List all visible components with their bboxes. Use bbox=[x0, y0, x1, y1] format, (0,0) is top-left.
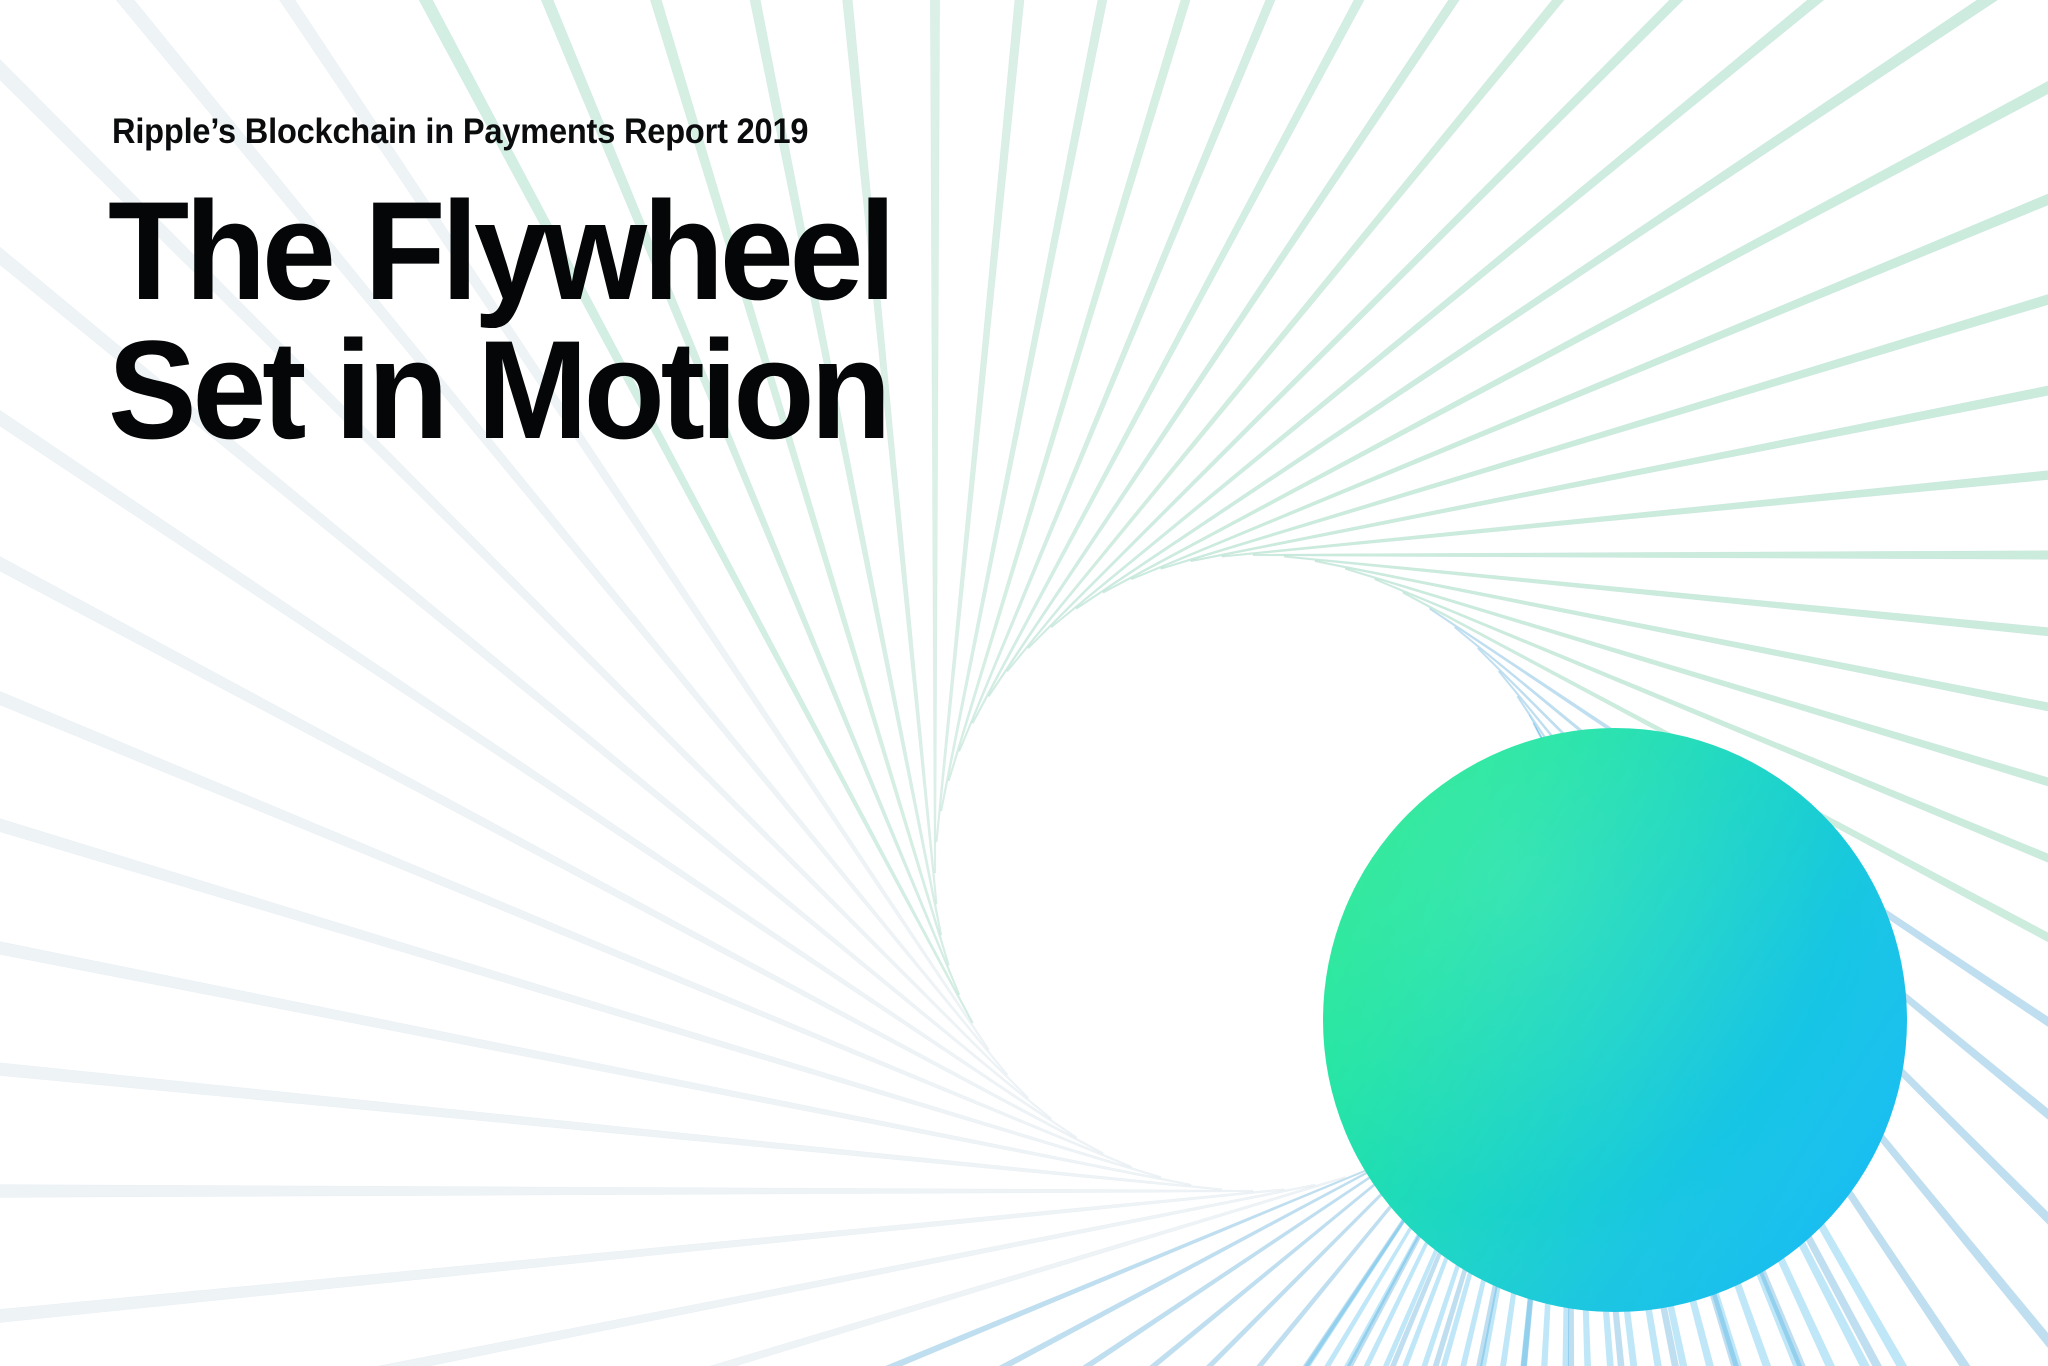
report-cover-page: Ripple’s Blockchain in Payments Report 2… bbox=[0, 0, 2048, 1366]
ray bbox=[1051, 0, 2048, 628]
ray bbox=[587, 0, 937, 904]
ray bbox=[0, 0, 1008, 1075]
ray bbox=[0, 0, 1077, 1138]
sphere-shading bbox=[1323, 728, 1907, 1312]
ray bbox=[0, 1175, 1253, 1207]
ray bbox=[0, 1074, 1499, 1366]
ray bbox=[0, 0, 989, 1050]
ray bbox=[0, 0, 960, 995]
ray bbox=[0, 1189, 1284, 1366]
ray bbox=[0, 0, 1052, 1119]
ray bbox=[1076, 0, 2048, 609]
ray bbox=[936, 0, 1286, 842]
gradient-sphere bbox=[1323, 728, 1907, 1312]
ray bbox=[1103, 0, 2048, 593]
ray bbox=[1007, 0, 2048, 672]
flywheel-spiral-graphic bbox=[0, 0, 2048, 1366]
ray bbox=[948, 0, 1951, 781]
